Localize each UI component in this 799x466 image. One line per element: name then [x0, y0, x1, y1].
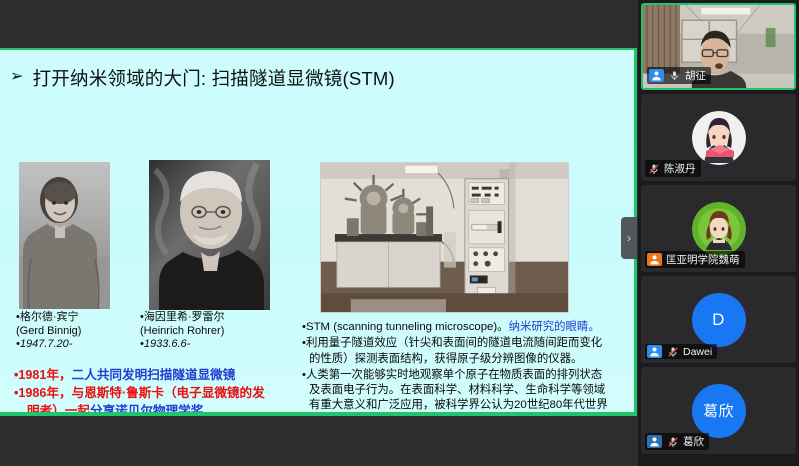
- award-line-1-blue: 二人共同发明扫描隧道显微镜: [72, 368, 236, 382]
- description-item-3: •人类第一次能够实时地观察单个原子在物质表面的排列状态 及表面电子行为。在表面科…: [302, 368, 632, 412]
- participant-name-bar: 陈淑丹: [645, 160, 701, 177]
- portrait-heinrich-rohrer: [149, 160, 270, 310]
- participant-name-bar: Dawei: [645, 344, 717, 359]
- avatar: [692, 111, 746, 165]
- participant-name-bar: 葛欣: [645, 433, 709, 450]
- mic-on-icon: [668, 69, 681, 82]
- participant-tile[interactable]: 匡亚明学院魏萌: [641, 185, 796, 272]
- participant-name-bar: 匡亚明学院魏萌: [645, 251, 745, 268]
- user-icon: [649, 69, 664, 82]
- description-item-2-line-1: •利用量子隧道效应（针尖和表面间的隧道电流随间距而变化: [302, 337, 602, 349]
- slide-title-text: 打开纳米领域的大门: 扫描隧道显微镜(STM): [33, 65, 395, 91]
- mic-off-icon: [666, 345, 679, 358]
- award-line-3-blue: 分享诺贝尔物理学奖: [90, 404, 203, 412]
- award-text-block: •1981年，二人共同发明扫描隧道显微镜 •1986年，与恩斯特·鲁斯卡（电子显…: [14, 366, 304, 412]
- meeting-window: ➢ 打开纳米领域的大门: 扫描隧道显微镜(STM): [0, 0, 799, 466]
- award-line-1: •1981年，二人共同发明扫描隧道显微镜: [14, 366, 304, 384]
- user-icon: [647, 253, 662, 266]
- participant-filmstrip[interactable]: 胡征: [638, 0, 799, 466]
- participant-tile[interactable]: 陈淑丹: [641, 94, 796, 181]
- slide-title: ➢ 打开纳米领域的大门: 扫描隧道显微镜(STM): [10, 65, 395, 91]
- participant-tile[interactable]: D Dawei: [641, 276, 796, 363]
- caption-gerd-binnig: •格尔德·宾宁 (Gerd Binnig) •1947.7.20-: [16, 311, 81, 352]
- description-item-2-line-2: 的性质）探测表面结构，获得原子级分辨图像的仪器。: [302, 352, 632, 367]
- award-line-3: 明者）一起分享诺贝尔物理学奖: [14, 402, 304, 412]
- avatar-initial-text: 葛欣: [703, 400, 734, 421]
- participant-name: 葛欣: [683, 434, 704, 449]
- award-line-1-year: •1981年，: [14, 368, 72, 382]
- screen-share-stage: ➢ 打开纳米领域的大门: 扫描隧道显微镜(STM): [0, 0, 638, 466]
- caption-dates: •1933.6.6-: [140, 338, 225, 352]
- avatar-initial: D: [692, 293, 746, 347]
- description-item-1-main: •STM (scanning tunneling microscope)。: [302, 321, 509, 333]
- user-icon: [647, 345, 662, 358]
- presentation-slide: ➢ 打开纳米领域的大门: 扫描隧道显微镜(STM): [0, 50, 634, 412]
- award-line-2: •1986年，与恩斯特·鲁斯卡（电子显微镜的发: [14, 384, 304, 402]
- participant-name: Dawei: [683, 346, 712, 358]
- participant-tile[interactable]: 胡征: [641, 3, 796, 90]
- user-icon: [647, 435, 662, 448]
- participant-tile[interactable]: 葛欣 葛欣: [641, 367, 796, 454]
- slide-frame: ➢ 打开纳米领域的大门: 扫描隧道显微镜(STM): [0, 48, 637, 416]
- caption-name-en: (Gerd Binnig): [16, 325, 81, 339]
- portrait-gerd-binnig: [19, 162, 110, 309]
- description-item-3-line-2: 及表面电子行为。在表面科学、材料科学、生命科学等领域: [302, 383, 632, 398]
- description-item-3-line-3: 有重大意义和广泛应用，被科学界公认为20世纪80年代世界: [302, 398, 632, 412]
- avatar-initial: 葛欣: [692, 384, 746, 438]
- mic-off-icon: [647, 162, 660, 175]
- caption-name-cn: •格尔德·宾宁: [16, 311, 81, 325]
- description-column: •STM (scanning tunneling microscope)。纳米研…: [302, 320, 632, 412]
- description-item-3-line-1: •人类第一次能够实时地观察单个原子在物质表面的排列状态: [302, 369, 602, 381]
- avatar-initial-text: D: [712, 310, 725, 330]
- caption-name-cn: •海因里希·罗雷尔: [140, 311, 225, 325]
- collapse-filmstrip-button[interactable]: ›: [621, 217, 637, 259]
- award-line-3-red: 明者）一起: [27, 404, 90, 412]
- caption-heinrich-rohrer: •海因里希·罗雷尔 (Heinrich Rohrer) •1933.6.6-: [140, 311, 225, 352]
- participant-name: 匡亚明学院魏萌: [666, 252, 740, 267]
- caption-name-en: (Heinrich Rohrer): [140, 325, 225, 339]
- arrow-bullet-icon: ➢: [10, 69, 24, 85]
- description-item-2: •利用量子隧道效应（针尖和表面间的隧道电流随间距而变化 的性质）探测表面结构，获…: [302, 336, 632, 367]
- description-item-1-highlight: 纳米研究的眼睛。: [509, 321, 600, 333]
- caption-dates: •1947.7.20-: [16, 338, 81, 352]
- participant-name: 胡征: [685, 68, 706, 83]
- description-item-1: •STM (scanning tunneling microscope)。纳米研…: [302, 320, 632, 335]
- chevron-right-icon: ›: [627, 231, 631, 245]
- stm-equipment-photo: [320, 162, 569, 313]
- participant-name: 陈淑丹: [664, 161, 696, 176]
- avatar: [692, 202, 746, 256]
- mic-off-icon: [666, 435, 679, 448]
- participant-name-bar: 胡征: [647, 67, 711, 84]
